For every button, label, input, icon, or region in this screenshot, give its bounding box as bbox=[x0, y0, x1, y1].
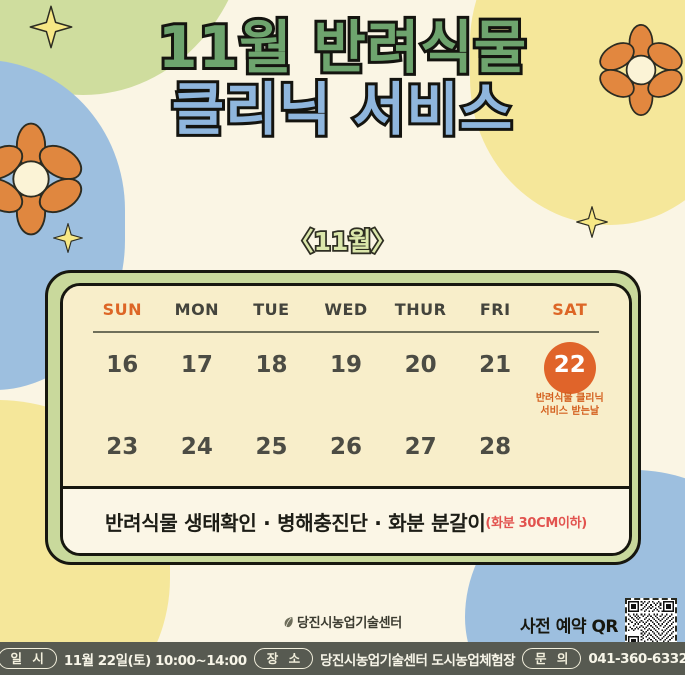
calendar-day-cell[interactable]: 28 bbox=[458, 427, 533, 461]
day-number: 22 bbox=[532, 345, 607, 385]
weekday-fri: FRI bbox=[458, 300, 533, 319]
contact-value: 041-360-6332 bbox=[588, 651, 685, 667]
day-number: 16 bbox=[85, 345, 160, 385]
day-number: 27 bbox=[383, 427, 458, 467]
calendar-day-cell[interactable]: 27 bbox=[383, 427, 458, 461]
day-number: 17 bbox=[160, 345, 235, 385]
service-description-note: (화분 30CM이하) bbox=[485, 512, 587, 531]
day-number: 28 bbox=[458, 427, 533, 467]
calendar-week-row-1: 16 17 18 19 20 21 bbox=[81, 345, 611, 411]
weekday-mon: MON bbox=[160, 300, 235, 319]
calendar-card-inner: SUN MON TUE WED THUR FRI SAT 16 17 bbox=[60, 283, 632, 556]
poster-root: 11월 반려식물 클리닉 서비스 〈11월〉 SUN MON TUE WED T… bbox=[0, 0, 685, 675]
calendar-day-cell-empty bbox=[532, 427, 607, 461]
day-number: 19 bbox=[309, 345, 384, 385]
poster-subtitle: 〈11월〉 bbox=[0, 222, 685, 258]
title-line-2: 클리닉 서비스 bbox=[0, 80, 685, 142]
weekday-sun: SUN bbox=[85, 300, 160, 319]
day-number: 26 bbox=[309, 427, 384, 467]
leaf-icon bbox=[283, 616, 294, 633]
day-number: 25 bbox=[234, 427, 309, 467]
day-number: 18 bbox=[234, 345, 309, 385]
date-value: 11월 22일(토) 10:00~14:00 bbox=[64, 649, 247, 669]
day-number: 21 bbox=[458, 345, 533, 385]
calendar-grid: SUN MON TUE WED THUR FRI SAT 16 17 bbox=[63, 286, 629, 486]
calendar-day-cell[interactable]: 21 bbox=[458, 345, 533, 411]
qr-label: 사전 예약 QR bbox=[520, 612, 618, 637]
service-description-bar: 반려식물 생태확인 · 병해충진단 · 화분 분갈이(화분 30CM이하) bbox=[63, 486, 629, 553]
day-number: 24 bbox=[160, 427, 235, 467]
calendar-day-cell[interactable]: 19 bbox=[309, 345, 384, 411]
poster-title: 11월 반려식물 클리닉 서비스 bbox=[0, 18, 685, 141]
calendar-header-divider bbox=[93, 331, 599, 333]
info-bar: 일 시 11월 22일(토) 10:00~14:00 장 소 당진시농업기술센터… bbox=[0, 642, 685, 675]
highlight-caption-line-1: 반려식물 클리닉 bbox=[532, 393, 607, 406]
calendar-card: SUN MON TUE WED THUR FRI SAT 16 17 bbox=[45, 270, 641, 565]
service-description-main: 반려식물 생태확인 · 병해충진단 · 화분 분갈이 bbox=[105, 507, 485, 536]
calendar-weekday-header: SUN MON TUE WED THUR FRI SAT bbox=[81, 300, 611, 319]
calendar-day-cell[interactable]: 24 bbox=[160, 427, 235, 461]
place-value: 당진시농업기술센터 도시농업체험장 bbox=[320, 649, 515, 669]
organization-name: 당진시농업기술센터 bbox=[297, 616, 402, 631]
calendar-day-cell[interactable]: 17 bbox=[160, 345, 235, 411]
calendar-day-cell[interactable]: 16 bbox=[85, 345, 160, 411]
weekday-thur: THUR bbox=[383, 300, 458, 319]
calendar-day-cell[interactable]: 23 bbox=[85, 427, 160, 461]
calendar-day-cell[interactable]: 26 bbox=[309, 427, 384, 461]
day-number: 23 bbox=[85, 427, 160, 467]
place-label-pill: 장 소 bbox=[254, 648, 313, 669]
calendar-day-cell-highlighted[interactable]: 22 반려식물 클리닉 서비스 받는날 bbox=[532, 345, 607, 411]
day-number: 20 bbox=[383, 345, 458, 385]
calendar-day-cell[interactable]: 25 bbox=[234, 427, 309, 461]
calendar-day-cell[interactable]: 18 bbox=[234, 345, 309, 411]
weekday-sat: SAT bbox=[532, 300, 607, 319]
contact-label-pill: 문 의 bbox=[522, 648, 581, 669]
calendar-day-cell[interactable]: 20 bbox=[383, 345, 458, 411]
date-label-pill: 일 시 bbox=[0, 648, 57, 669]
highlight-caption-line-2: 서비스 받는날 bbox=[532, 406, 607, 419]
calendar-week-row-2: 23 24 25 26 27 28 bbox=[81, 427, 611, 461]
title-line-1: 11월 반려식물 bbox=[0, 18, 685, 80]
weekday-tue: TUE bbox=[234, 300, 309, 319]
weekday-wed: WED bbox=[309, 300, 384, 319]
